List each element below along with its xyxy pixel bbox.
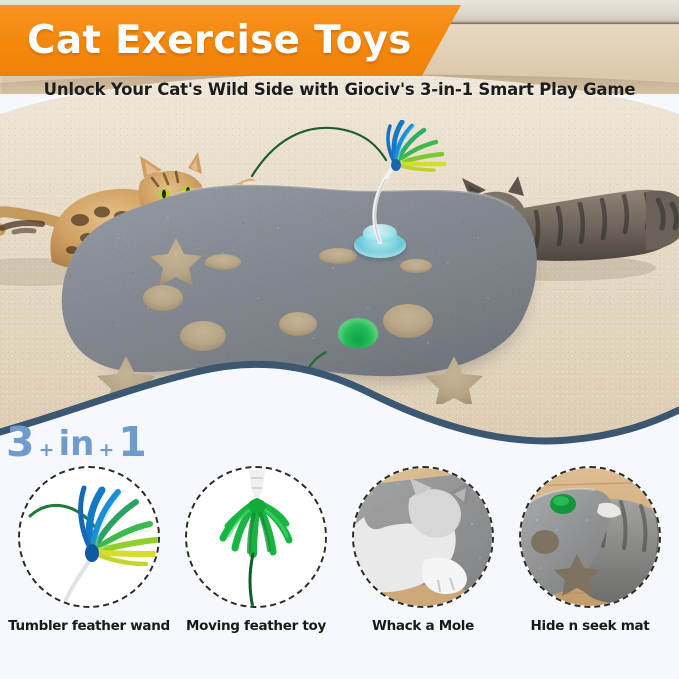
badge-number-one: 1 — [118, 422, 147, 463]
badge-plus-1: + — [35, 441, 59, 463]
green-mole-feather — [338, 318, 378, 348]
badge-plus-2: + — [94, 441, 118, 463]
tumbler-feather-wand-toy — [330, 124, 450, 269]
feature-image-2 — [187, 468, 325, 606]
feature-label: Moving feather toy — [186, 618, 326, 634]
feature-item: Moving feather toy — [175, 466, 337, 634]
badge-number-three: 3 — [6, 422, 35, 463]
three-in-one-badge: 3 + in + 1 — [6, 422, 147, 463]
feature-circle-3 — [352, 466, 494, 608]
feature-circle-2 — [185, 466, 327, 608]
page-subtitle: Unlock Your Cat's Wild Side with Giociv'… — [0, 80, 679, 99]
feature-label: Whack a Mole — [372, 618, 474, 634]
feature-item: Tumbler feather wand — [8, 466, 170, 634]
feature-label: Tumbler feather wand — [8, 618, 170, 634]
page-title: Cat Exercise Toys — [0, 5, 440, 76]
features-section: 3 + in + 1 — [0, 420, 679, 679]
feature-list: Tumbler feather wand — [0, 466, 679, 634]
cat-on-mat-photo-icon — [354, 468, 492, 606]
feature-image-3 — [354, 468, 492, 606]
feature-circle-1 — [18, 466, 160, 608]
feather-plume — [348, 120, 452, 180]
blue-green-feather-wand-icon — [20, 468, 158, 606]
feature-item: Hide n seek mat — [509, 466, 671, 634]
feature-item: Whack a Mole — [342, 466, 504, 634]
cat-under-mat-photo-icon — [521, 468, 659, 606]
feature-label: Hide n seek mat — [531, 618, 650, 634]
feature-image-4 — [521, 468, 659, 606]
product-infographic: Cat Exercise Toys Unlock Your Cat's Wild… — [0, 0, 679, 679]
badge-in-label: in — [58, 425, 94, 463]
green-feather-toy-icon — [187, 468, 325, 606]
feature-circle-4 — [519, 466, 661, 608]
feature-image-1 — [20, 468, 158, 606]
